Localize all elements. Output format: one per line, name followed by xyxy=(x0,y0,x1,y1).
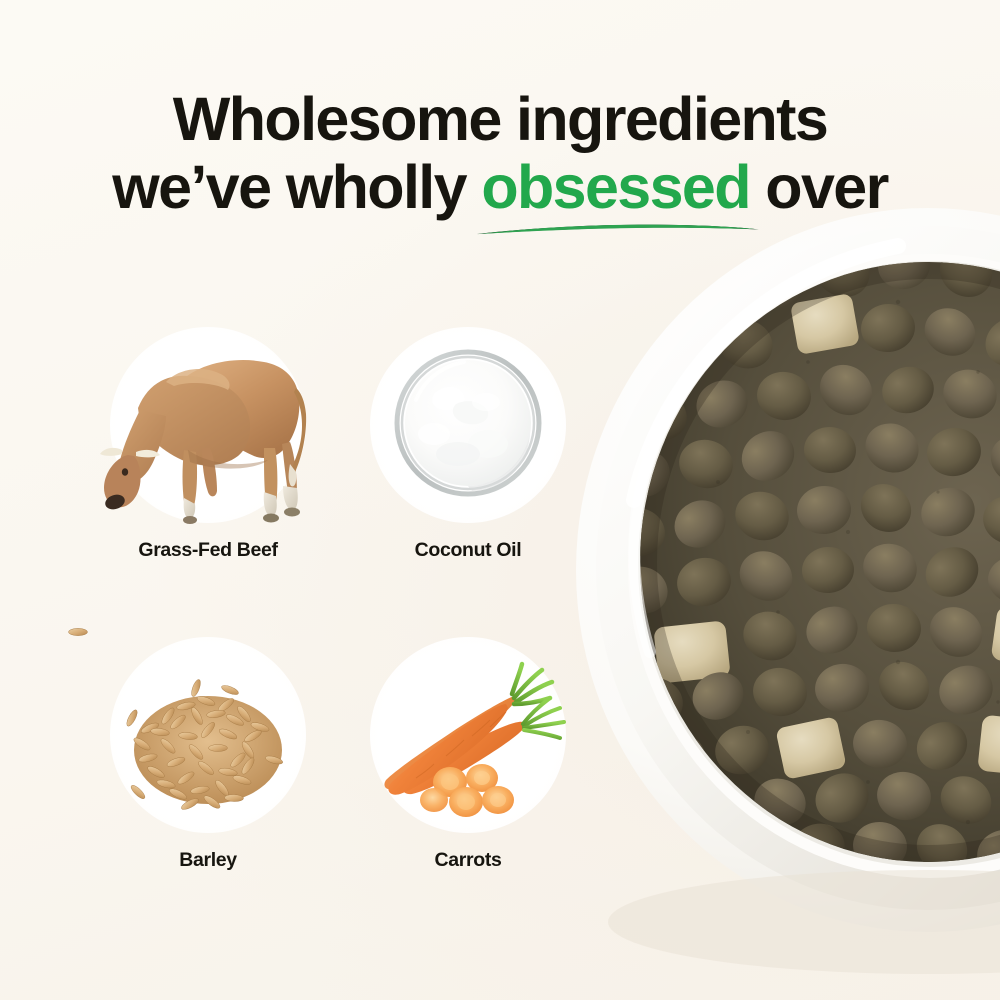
cow-grazing-icon xyxy=(78,322,338,527)
ingredient-row-top: Grass-Fed Beef xyxy=(78,322,598,562)
ingredient-card-carrots[interactable]: Carrots xyxy=(338,632,598,872)
page-title: Wholesome ingredients we’ve wholly obses… xyxy=(0,88,1000,218)
ingredient-label: Carrots xyxy=(338,849,598,872)
carrots-icon xyxy=(338,632,598,837)
headline-line-2-before: we’ve wholly xyxy=(112,153,481,221)
ingredient-card-coconut-oil[interactable]: Coconut Oil xyxy=(338,322,598,562)
ingredient-card-grass-fed-beef[interactable]: Grass-Fed Beef xyxy=(78,322,338,562)
grid-row-gap xyxy=(78,562,598,632)
headline-line-2: we’ve wholly obsessed over xyxy=(0,156,1000,218)
headline-line-2-after: over xyxy=(750,153,888,221)
ingredient-row-bottom: Barley xyxy=(78,632,598,872)
headline-accent-word: obsessed xyxy=(481,153,750,221)
dog-food-bowl xyxy=(598,232,1000,1000)
ingredient-disc-holder xyxy=(78,632,338,837)
barley-grain-pile-icon xyxy=(78,632,338,837)
ingredient-disc-holder xyxy=(338,632,598,837)
ingredient-disc-holder xyxy=(338,322,598,527)
glass-jar-coconut-oil-icon xyxy=(338,322,598,527)
headline-line-1: Wholesome ingredients xyxy=(0,88,1000,150)
ingredient-card-barley[interactable]: Barley xyxy=(78,632,338,872)
ingredient-disc-holder xyxy=(78,322,338,527)
ingredient-label: Coconut Oil xyxy=(338,539,598,562)
ingredient-label: Barley xyxy=(78,849,338,872)
ingredient-label: Grass-Fed Beef xyxy=(78,539,338,562)
ingredients-promo-image: Wholesome ingredients we’ve wholly obses… xyxy=(0,0,1000,1000)
ingredient-grid: Grass-Fed Beef xyxy=(78,322,598,872)
headline-accent-wrap: obsessed xyxy=(481,156,750,218)
